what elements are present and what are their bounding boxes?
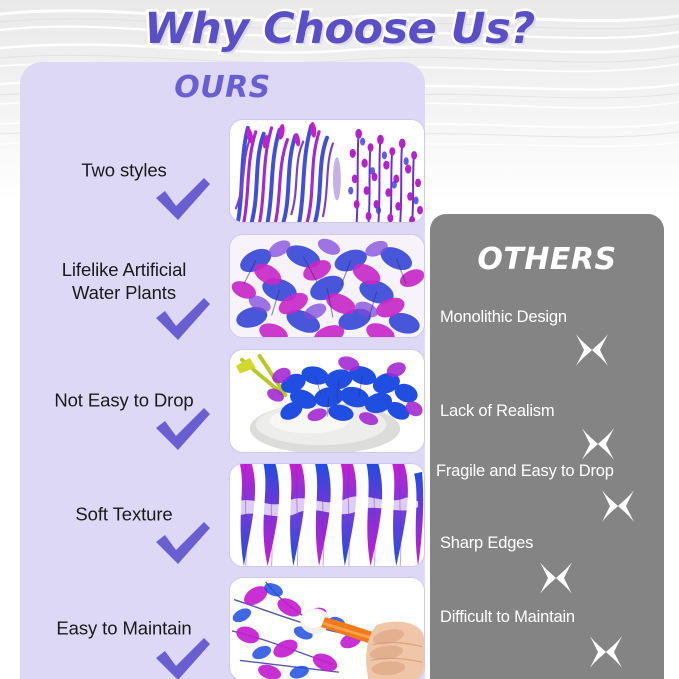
- checkmark-icon: [152, 406, 214, 452]
- checkmark-icon: [152, 176, 214, 222]
- ours-item-image: [229, 119, 425, 223]
- ours-row: Not Easy to Drop: [20, 344, 425, 458]
- cross-icon: [536, 558, 576, 598]
- others-panel: OTHERS Monolithic Design Lack of Realism…: [430, 214, 664, 679]
- ours-item-image: [229, 349, 425, 453]
- others-item-label: Difficult to Maintain: [440, 608, 664, 627]
- ours-row: Easy to Maintain: [20, 572, 425, 679]
- page-title-text: Why Choose Us?: [144, 4, 534, 54]
- page-title: Why Choose Us?: [0, 4, 679, 54]
- ours-row: Lifelike Artificial Water Plants: [20, 230, 425, 344]
- comparison-infographic: Why Choose Us? OURS Two styles: [0, 0, 679, 679]
- ours-item-image: [229, 234, 425, 338]
- cross-icon: [598, 486, 638, 526]
- others-item-label: Fragile and Easy to Drop: [436, 462, 660, 481]
- ours-item-image: [229, 577, 425, 679]
- ours-item-image: [229, 463, 425, 567]
- checkmark-icon: [152, 636, 214, 679]
- ours-panel: OURS Two styles: [20, 62, 425, 679]
- others-item-label: Monolithic Design: [440, 308, 664, 327]
- others-item-label: Sharp Edges: [440, 534, 664, 553]
- cross-icon: [586, 632, 626, 672]
- cross-icon: [578, 424, 618, 464]
- ours-heading: OURS: [20, 70, 425, 105]
- others-heading: OTHERS: [430, 242, 664, 277]
- others-item-label: Lack of Realism: [440, 402, 664, 421]
- ours-row: Soft Texture: [20, 458, 425, 572]
- ours-row: Two styles: [20, 114, 425, 228]
- checkmark-icon: [152, 296, 214, 342]
- checkmark-icon: [152, 520, 214, 566]
- cross-icon: [572, 330, 612, 370]
